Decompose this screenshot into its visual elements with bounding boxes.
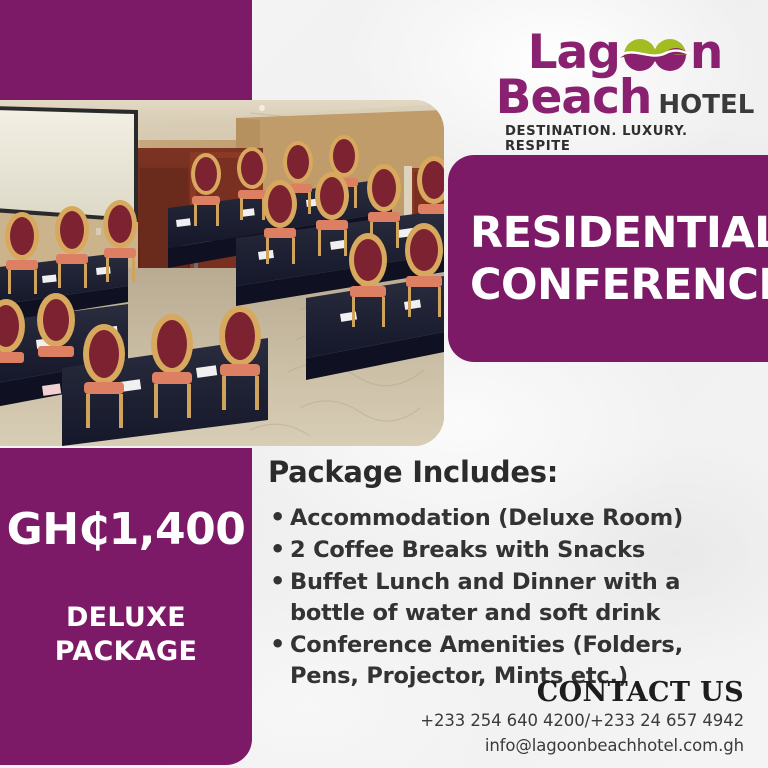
- price-package-line-2: PACKAGE: [55, 635, 198, 669]
- price-block: GH₵1,400 DELUXE PACKAGE: [0, 448, 252, 765]
- logo-text-beach: Beach: [496, 74, 652, 121]
- contact-section: CONTACT US +233 254 640 4200/+233 24 657…: [420, 677, 744, 758]
- list-item: Accommodation (Deluxe Room): [268, 503, 746, 534]
- conference-room-illustration: [0, 100, 444, 446]
- price-amount: GH₵1,400: [7, 504, 246, 555]
- logo-text-n: n: [690, 30, 722, 76]
- logo-tagline: DESTINATION. LUXURY. RESPITE: [505, 124, 745, 154]
- logo-text-hotel: HOTEL: [658, 90, 754, 120]
- list-item: 2 Coffee Breaks with Snacks: [268, 535, 746, 566]
- headline-line-1: RESIDENTIAL: [470, 207, 768, 259]
- list-item: Buffet Lunch and Dinner with a bottle of…: [268, 567, 746, 629]
- top-left-purple-band: [0, 0, 252, 101]
- price-package-line-1: DELUXE: [55, 601, 198, 635]
- contact-email[interactable]: info@lagoonbeachhotel.com.gh: [420, 733, 744, 758]
- contact-phone[interactable]: +233 254 640 4200/+233 24 657 4942: [420, 708, 744, 733]
- headline-line-2: CONFERENCE: [470, 259, 768, 311]
- contact-heading: CONTACT US: [420, 677, 744, 708]
- conference-room-photo: [0, 100, 444, 446]
- price-package-name: DELUXE PACKAGE: [55, 601, 198, 669]
- brand-logo: La g n Beach HOTEL DESTINATION. LUXURY. …: [505, 28, 745, 148]
- package-includes-section: Package Includes: Accommodation (Deluxe …: [268, 455, 746, 693]
- package-heading: Package Includes:: [268, 455, 746, 489]
- package-list: Accommodation (Deluxe Room) 2 Coffee Bre…: [268, 503, 746, 692]
- logo-line-beach-hotel: Beach HOTEL: [496, 74, 755, 121]
- headline-block: RESIDENTIAL CONFERENCE: [448, 155, 768, 362]
